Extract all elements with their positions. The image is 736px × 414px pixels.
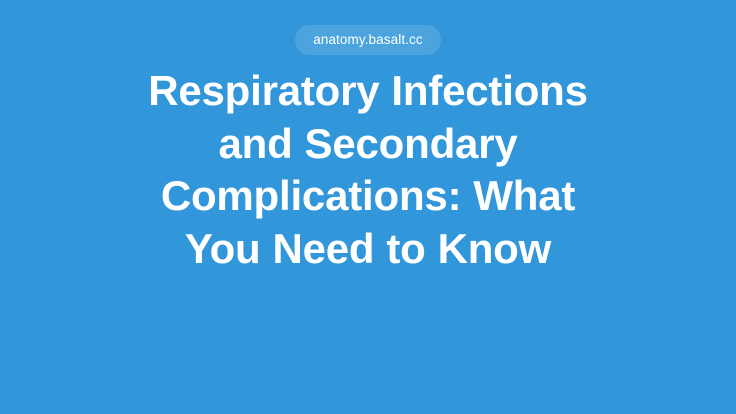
site-domain-badge: anatomy.basalt.cc — [295, 25, 441, 55]
hero-card: anatomy.basalt.cc Respiratory Infections… — [0, 0, 736, 414]
page-title: Respiratory Infections and Secondary Com… — [133, 65, 603, 275]
